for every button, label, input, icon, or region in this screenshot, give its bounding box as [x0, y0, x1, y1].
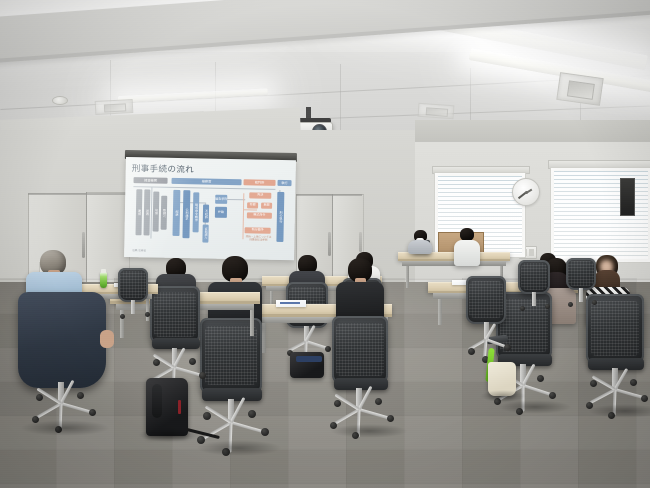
partition-handle[interactable]: [328, 232, 331, 256]
table-leg: [262, 323, 266, 353]
flow-box-right-0: 刑の執行: [276, 192, 284, 242]
flow-box-orange-0: 判決: [249, 192, 271, 198]
flow-box-grey-2: 勾留: [153, 192, 160, 232]
flow-box-orange-2: 無罪: [261, 203, 272, 209]
chair-shadow: [498, 400, 572, 414]
flow-header-2: 裁判所: [243, 179, 275, 186]
flow-header-0: 捜査機関: [133, 177, 167, 184]
backpack-zipper-pull: [178, 400, 181, 414]
flow-box-orange-4: 執行猶予: [245, 227, 271, 233]
wall-right-header-band: [415, 120, 650, 142]
flow-box-grey-1: 送致: [143, 189, 150, 235]
table-leg: [146, 299, 149, 321]
wall-mounted-speaker: [620, 178, 635, 216]
flow-note: 控訴・上告については 刑事訴訟法参照: [242, 235, 274, 242]
flow-box-orange-3: 略式命令: [247, 212, 272, 218]
flow-box-blue-1: 公判請求: [182, 190, 190, 238]
ceiling-grid-line: [340, 64, 341, 136]
flow-box-blue-6: 弁論: [215, 207, 227, 218]
table-leg: [250, 310, 254, 336]
object-shadow: [138, 428, 200, 442]
backpack-strap: [152, 384, 162, 418]
draped-jacket: [18, 292, 106, 388]
seminar-room-photo: 刑事手続の流れ 捜査機関 検察官 裁判所 執行 逮捕 送致 勾留: [0, 0, 650, 488]
bottle-cap: [101, 269, 106, 273]
flow-footnote: 出典:法務省: [132, 248, 146, 252]
window-right: [550, 167, 650, 263]
partition-top-rail: [296, 194, 362, 196]
chair-shadow: [20, 420, 110, 436]
chair-shadow: [330, 424, 408, 438]
flow-box-blue-5: 論告求刑: [215, 195, 227, 204]
person-torso: [454, 240, 480, 266]
flow-header-3: 執行: [277, 180, 291, 186]
ceiling-air-diffuser: [556, 72, 603, 106]
chair-shadow: [196, 440, 282, 456]
partition-top-rail: [28, 193, 128, 195]
flow-box-orange-1: 有罪: [247, 202, 258, 208]
flow-header-1: 検察官: [171, 178, 241, 185]
flow-box-blue-3: 不起訴: [203, 204, 209, 222]
projected-slide: 刑事手続の流れ 捜査機関 検察官 裁判所 執行 逮捕 送致 勾留: [124, 157, 296, 260]
ceiling-speaker-icon: [52, 96, 68, 105]
flow-box-blue-2: 略式命令請求: [193, 192, 200, 232]
partition-handle[interactable]: [82, 232, 85, 258]
table-leg: [438, 299, 442, 325]
clock-center-pin: [525, 191, 528, 194]
slide-title: 刑事手続の流れ: [132, 162, 290, 177]
projection-screen: 刑事手続の流れ 捜査機関 検察官 裁判所 執行 逮捕 送致 勾留: [124, 157, 296, 260]
drink-bottle[interactable]: [100, 272, 107, 288]
flow-box-grey-0: 逮捕: [136, 189, 143, 235]
paper-marking: [280, 302, 300, 304]
bag-accent: [296, 356, 322, 362]
flow-box-grey-3: 取調べ: [161, 196, 168, 230]
partition-handle[interactable]: [359, 232, 362, 252]
ceiling-air-diffuser: [418, 103, 455, 119]
wall-clock: [512, 178, 540, 206]
person-torso: [408, 240, 432, 254]
person-hand: [100, 330, 114, 348]
flow-box-blue-0: 起訴: [172, 190, 180, 236]
table-leg: [406, 266, 409, 288]
slide-flowchart: 捜査機関 検察官 裁判所 執行 逮捕 送致 勾留 取調べ 起訴: [130, 177, 290, 255]
ceiling-air-diffuser: [95, 99, 134, 115]
flow-box-blue-4: 証拠調べ: [202, 224, 208, 242]
